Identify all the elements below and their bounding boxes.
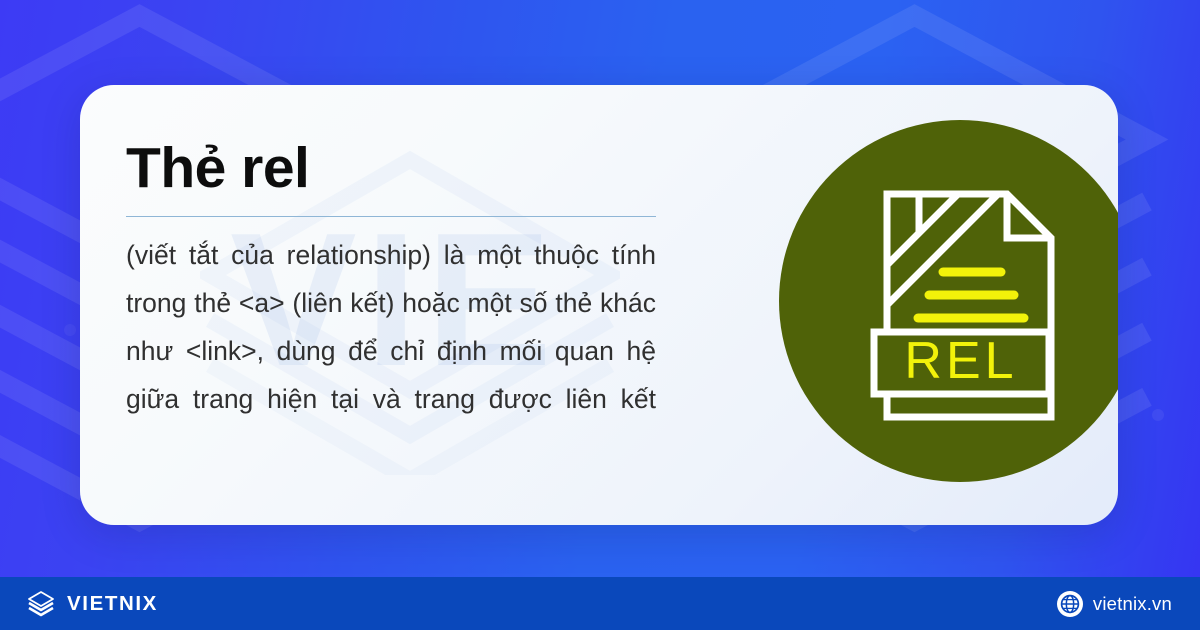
- page-title: Thẻ rel: [126, 138, 656, 200]
- site-url-lockup[interactable]: vietnix.vn: [1057, 591, 1172, 617]
- site-url-text: vietnix.vn: [1093, 593, 1172, 615]
- poster-canvas: VIE Thẻ rel (viết tắt của relationship) …: [0, 0, 1200, 630]
- brand-lockup[interactable]: VIETNIX: [26, 589, 158, 619]
- globe-icon: [1057, 591, 1083, 617]
- content-card: VIE Thẻ rel (viết tắt của relationship) …: [80, 85, 1118, 525]
- text-column: Thẻ rel (viết tắt của relationship) là m…: [126, 138, 656, 471]
- body-paragraph: (viết tắt của relationship) là một thuộc…: [126, 231, 656, 471]
- brand-name: VIETNIX: [67, 592, 158, 616]
- footer-bar: VIETNIX vietnix.vn: [0, 577, 1200, 630]
- rel-file-icon: REL: [779, 120, 1118, 482]
- rel-label: REL: [904, 332, 1017, 390]
- stacked-layers-icon: [26, 589, 56, 619]
- title-divider: [126, 216, 656, 217]
